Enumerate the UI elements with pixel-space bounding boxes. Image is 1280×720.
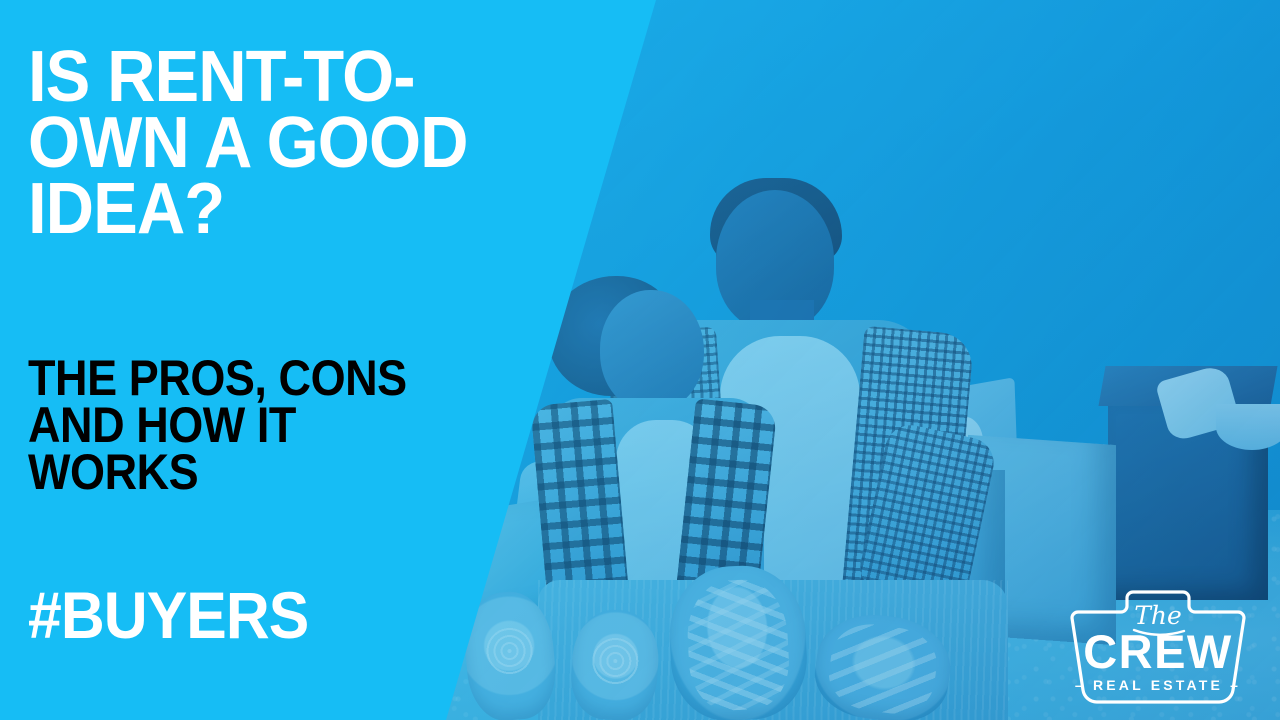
crew-real-estate-logo: The CREW – REAL ESTATE – [1062,584,1254,712]
logo-brand-name: CREW [1083,625,1233,678]
logo-tagline: – REAL ESTATE – [1075,677,1241,693]
slide-canvas: IS RENT-TO- OWN A GOOD IDEA? THE PROS, C… [0,0,1280,720]
